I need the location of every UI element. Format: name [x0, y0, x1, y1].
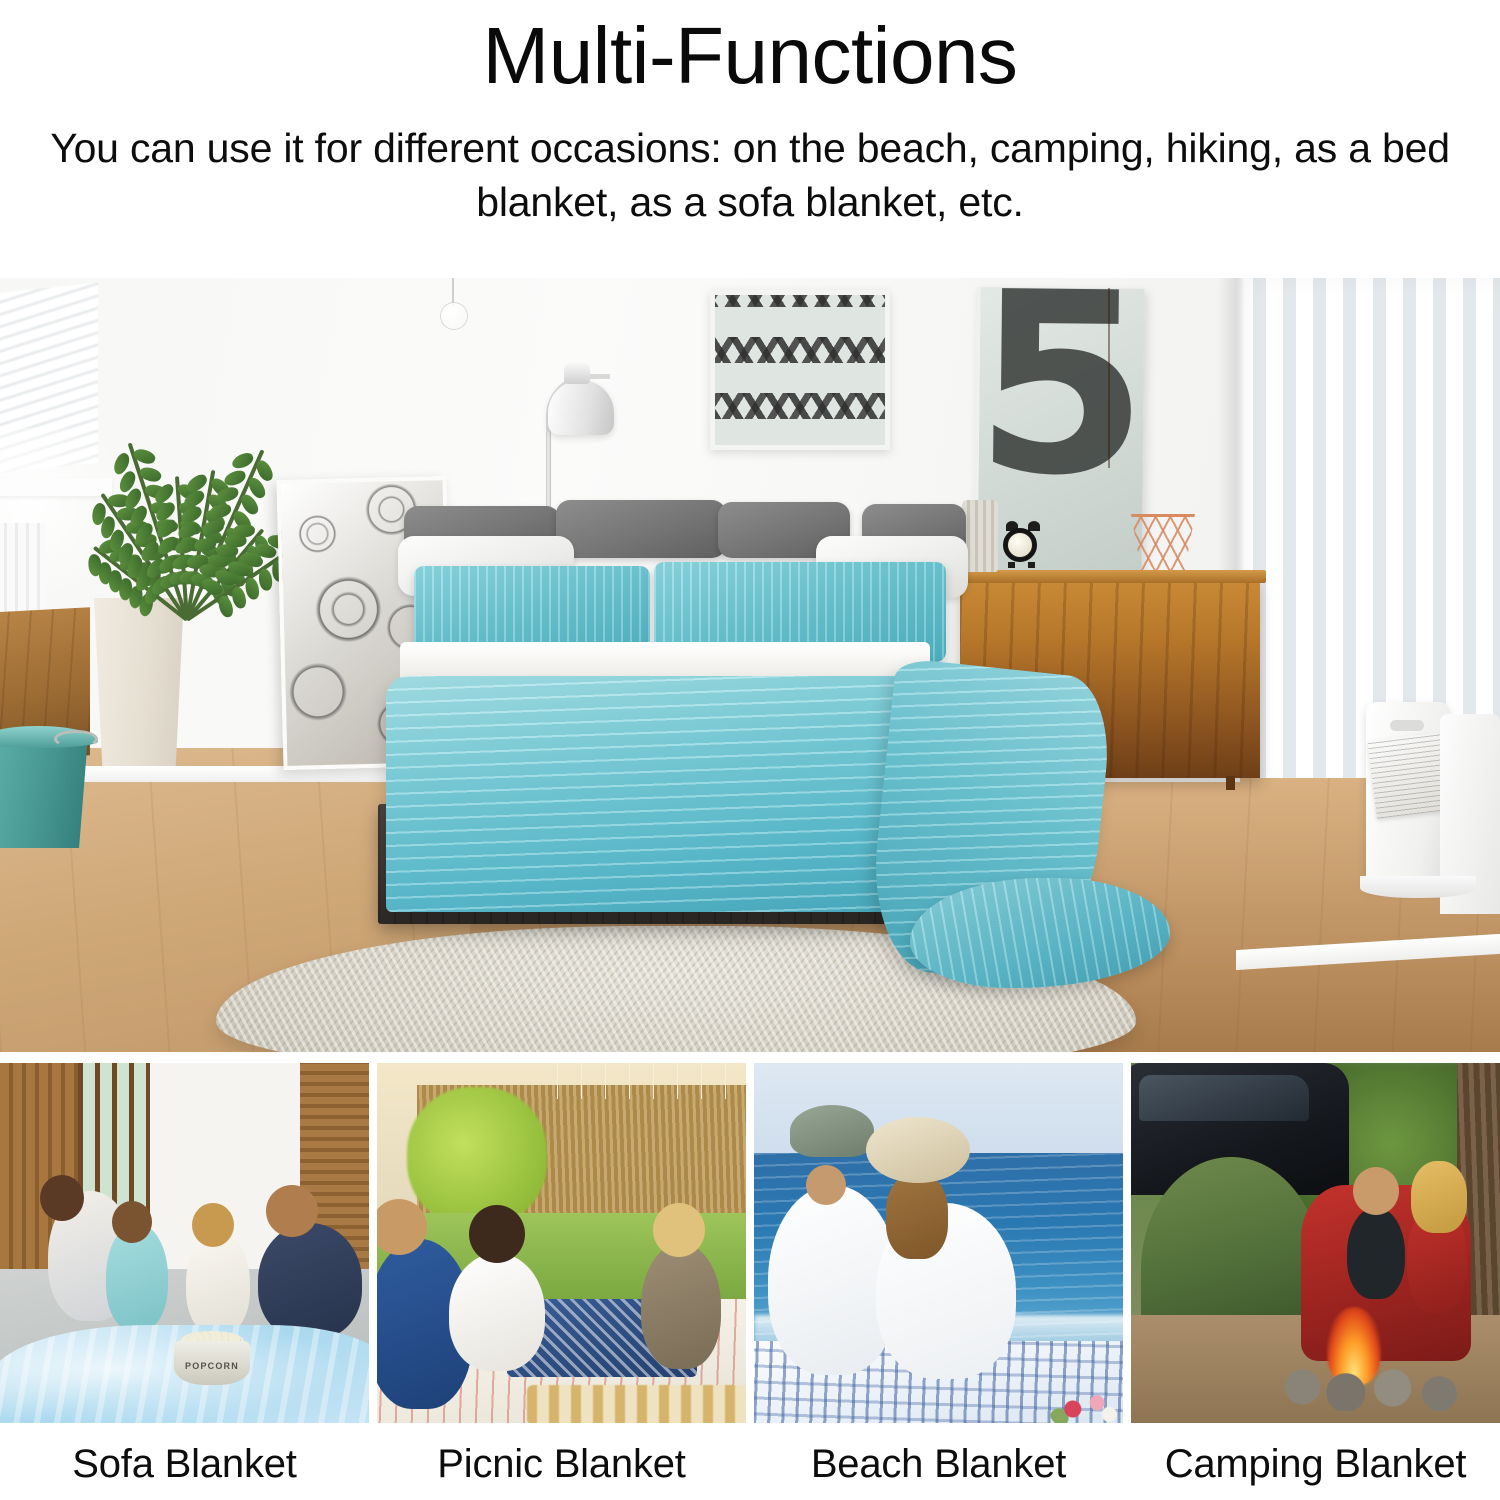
hero-scene: 5: [0, 278, 1500, 1052]
plant-leaf: [258, 568, 272, 591]
thumbnail-camping-blanket[interactable]: [1131, 1063, 1500, 1423]
alarm-clock-foot-right: [1028, 562, 1035, 568]
t3-man-head: [806, 1165, 846, 1205]
plant-leaf: [137, 464, 162, 484]
t4-suv-window: [1139, 1075, 1309, 1121]
header: Multi-Functions You can use it for diffe…: [0, 0, 1500, 230]
t2-picnic-food: [527, 1385, 746, 1423]
t2-person-girl: [641, 1243, 721, 1369]
caption-picnic-blanket: Picnic Blanket: [377, 1444, 746, 1484]
t2-bush: [407, 1087, 547, 1227]
product-infographic-page: Multi-Functions You can use it for diffe…: [0, 0, 1500, 1500]
thumbnail-picnic-blanket[interactable]: [377, 1063, 746, 1423]
t1-girl-head: [192, 1203, 234, 1247]
t1-father-head: [266, 1185, 318, 1237]
alarm-clock-bell-right: [1028, 521, 1040, 531]
plant-pot: [88, 598, 190, 766]
t4-person-man: [1347, 1207, 1405, 1299]
t4-fire-ring-stones: [1281, 1363, 1461, 1411]
page-subtitle: You can use it for different occasions: …: [0, 121, 1500, 230]
plant-leaf: [233, 524, 256, 538]
teal-quilted-blanket: [386, 676, 946, 912]
plant-leaf: [88, 554, 101, 576]
caption-sofa-blanket: Sofa Blanket: [0, 1444, 369, 1484]
plant-leaf: [245, 577, 260, 600]
plant-leaf: [132, 446, 157, 467]
t1-popcorn-bowl-label: POPCORN: [174, 1361, 250, 1371]
trash-bin: [0, 740, 92, 848]
thumbnail-row: POPCORN: [0, 1063, 1500, 1423]
artwork-number-five: 5: [973, 287, 1144, 589]
thumbnail-beach-blanket[interactable]: [754, 1063, 1123, 1423]
artwork-zigzag: [710, 290, 890, 450]
caption-row: Sofa Blanket Picnic Blanket Beach Blanke…: [0, 1428, 1500, 1500]
t3-woman-hat-icon: [866, 1117, 970, 1183]
alarm-clock-foot-left: [1008, 562, 1015, 568]
t1-person-father: [258, 1223, 362, 1339]
t2-girl-head: [653, 1203, 705, 1257]
plant-leaf: [230, 451, 255, 470]
alarm-clock-face: [1008, 533, 1032, 557]
t2-boy-head: [469, 1205, 525, 1263]
t1-boy-head: [112, 1201, 152, 1243]
hero-image-bedroom: 5: [0, 278, 1500, 1052]
floor-lamp-cap: [564, 362, 590, 384]
plant-leaf: [231, 586, 247, 610]
pendant-bulb-icon: [440, 302, 468, 330]
trash-bin-handle: [54, 730, 98, 748]
t4-woman-hair: [1411, 1161, 1467, 1233]
dresser-top: [956, 570, 1266, 583]
t4-man-head: [1353, 1167, 1399, 1215]
t2-bunting-flags: [557, 1063, 746, 1099]
page-title: Multi-Functions: [0, 14, 1500, 99]
t2-person-boy: [449, 1253, 545, 1371]
thumbnail-sofa-blanket[interactable]: POPCORN: [0, 1063, 369, 1423]
t1-popcorn-bowl: POPCORN: [174, 1341, 250, 1385]
artwork-five-label: 5: [973, 287, 1144, 498]
caption-camping-blanket: Camping Blanket: [1131, 1444, 1500, 1484]
pillow-grey-2: [556, 500, 726, 558]
caption-beach-blanket: Beach Blanket: [754, 1444, 1123, 1484]
magazine-rack-foot: [1360, 876, 1476, 898]
magazine-rack-handle: [1390, 720, 1424, 731]
t1-person-girl: [186, 1231, 250, 1335]
dresser-seam: [1108, 288, 1110, 468]
plant-leaf: [223, 468, 248, 487]
t1-mother-head: [40, 1175, 84, 1221]
t3-man-hat-icon: [790, 1105, 874, 1157]
t3-flower-bouquet: [1050, 1387, 1123, 1423]
t3-woman-hair: [886, 1173, 948, 1259]
